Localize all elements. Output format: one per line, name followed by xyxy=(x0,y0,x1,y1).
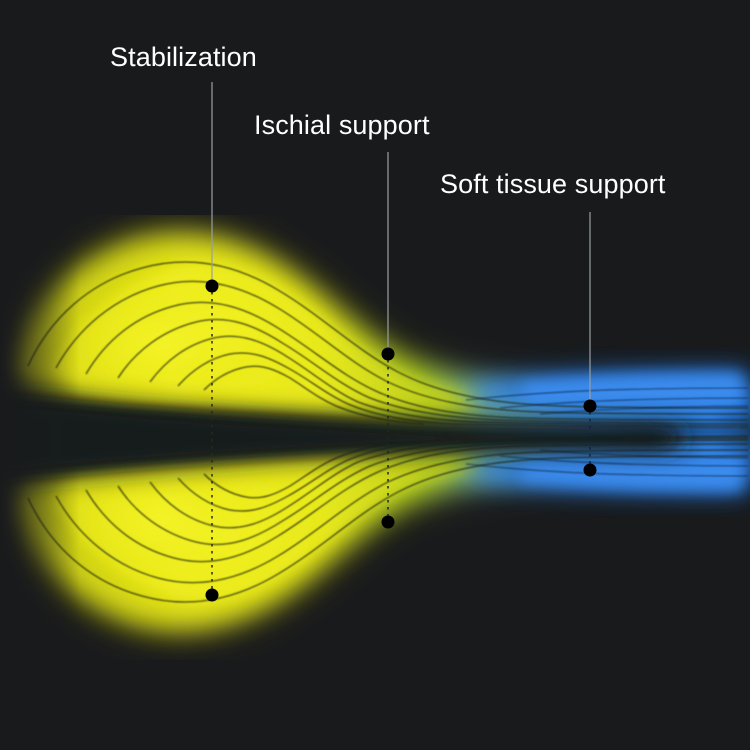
marker-dot-stabilization-upper[interactable] xyxy=(206,280,219,293)
left-edge-fade xyxy=(0,200,80,670)
marker-dot-soft-tissue-lower[interactable] xyxy=(584,464,597,477)
marker-dot-ischial-lower[interactable] xyxy=(382,516,395,529)
hotspot-stabilization-core xyxy=(65,287,255,403)
marker-dot-ischial-upper[interactable] xyxy=(382,348,395,361)
callout-label-ischial-support: Ischial support xyxy=(254,112,430,139)
marker-dot-stabilization-lower[interactable] xyxy=(206,589,219,602)
pressure-map-figure: Stabilization Ischial support Soft tissu… xyxy=(0,0,750,750)
callout-label-stabilization: Stabilization xyxy=(110,44,257,71)
marker-dot-soft-tissue-upper[interactable] xyxy=(584,400,597,413)
hotspot-stabilization-mirror-core xyxy=(65,461,255,577)
bottom-mask xyxy=(0,660,750,750)
callout-label-soft-tissue-support: Soft tissue support xyxy=(440,171,666,198)
